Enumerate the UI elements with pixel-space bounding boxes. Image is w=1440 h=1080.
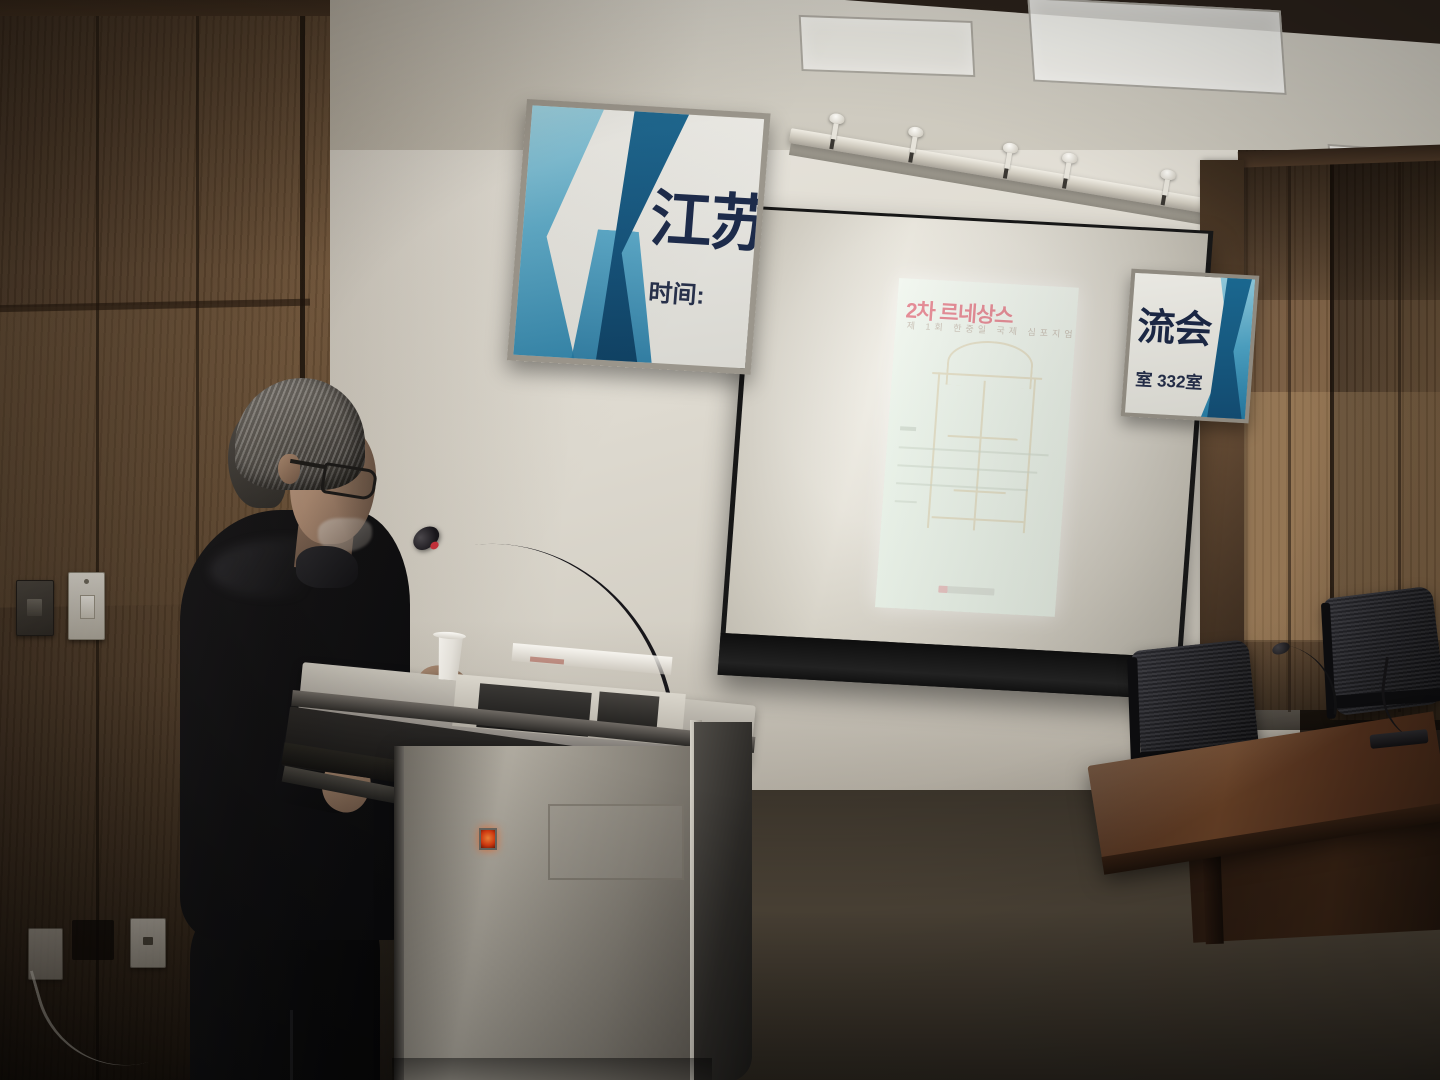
lectern xyxy=(282,628,762,1080)
presenter-ear xyxy=(278,454,300,484)
lectern-side-panel xyxy=(694,722,752,1080)
banner-right: 流会 室 332室 xyxy=(1121,269,1260,424)
banner-left-title: 江苏 xyxy=(647,168,770,265)
lectern-left-edge xyxy=(394,746,404,1080)
light-switch-plate[interactable] xyxy=(16,580,54,636)
conference-room-photo: 2차 르네상스 제 1회 한중일 국제 심포지엄 xyxy=(0,0,1440,1080)
power-indicator-led[interactable] xyxy=(479,828,497,850)
panel-table-surface xyxy=(1100,690,1440,940)
banner-right-subtitle: 室 332室 xyxy=(1135,365,1204,394)
presenter-collar xyxy=(296,546,358,588)
lectern-body-shading xyxy=(400,746,700,1080)
lectern-panel-inset xyxy=(548,804,684,880)
light-switch-plate[interactable] xyxy=(68,572,105,640)
lectern-floor-shadow xyxy=(392,1058,712,1080)
banner-left: 江苏 时间: xyxy=(507,99,771,375)
banner-right-title: 流会 xyxy=(1136,295,1214,354)
right-wall-upper-shadow xyxy=(1238,150,1440,300)
banner-left-subtitle: 时间: xyxy=(647,273,706,311)
